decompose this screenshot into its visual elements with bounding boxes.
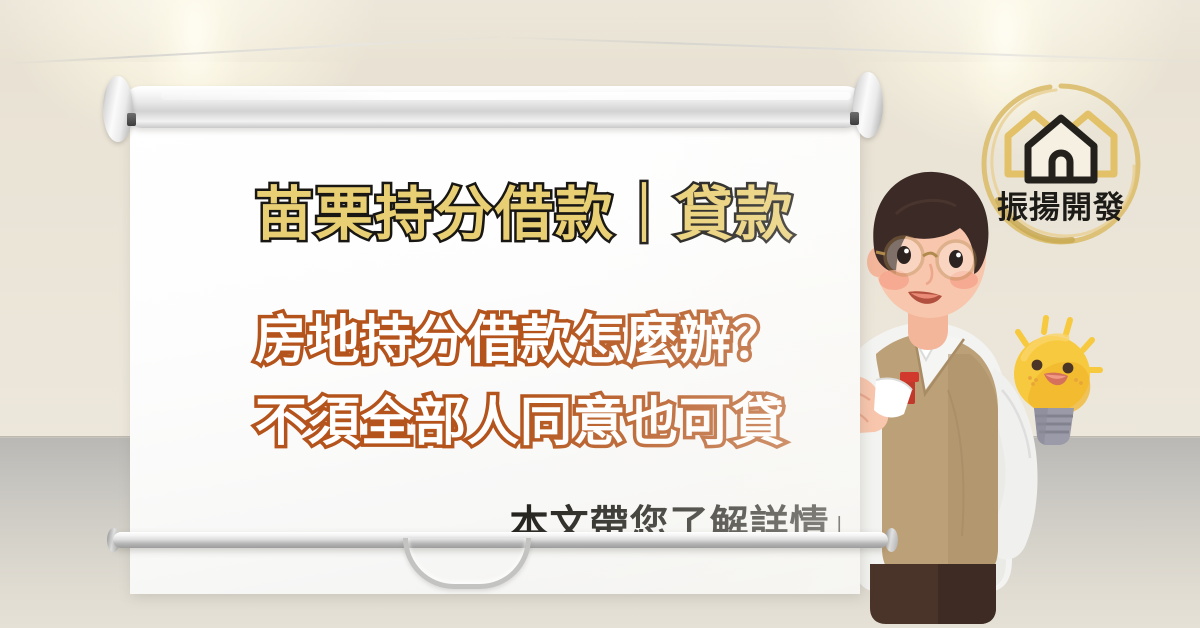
projector-screen: 苗栗持分借款｜貸款 房地持分借款怎麼辦？ 不須全部人同意也可貸 本文帶您了解詳情…: [103, 72, 893, 582]
brand-name-text: 振揚開發: [997, 190, 1125, 225]
poster-headline: 苗栗持分借款｜貸款: [190, 167, 860, 251]
screen-surface: 苗栗持分借款｜貸款 房地持分借款怎麼辦？ 不須全部人同意也可貸 本文帶您了解詳情…: [130, 102, 860, 594]
screen-roller-bar: [121, 86, 866, 128]
roller-notch-left: [127, 113, 136, 126]
smiling-lightbulb-mascot: [988, 312, 1116, 448]
poster-subtitle-line-1: 房地持分借款怎麼辦？: [180, 298, 860, 373]
roller-notch-right: [850, 112, 859, 125]
roller-highlight: [161, 92, 851, 100]
poster-canvas: 苗栗持分借款｜貸款 房地持分借款怎麼辦？ 不須全部人同意也可貸 本文帶您了解詳情…: [0, 0, 1200, 628]
brand-logo: 振揚開發: [968, 72, 1154, 258]
roller-cap-left: [103, 76, 133, 142]
three-houses-icon: [1008, 114, 1114, 180]
lightbulb-base: [1034, 408, 1074, 445]
roller-cap-right: [853, 72, 883, 138]
poster-subtitle-line-2: 不須全部人同意也可貸: [180, 380, 860, 455]
